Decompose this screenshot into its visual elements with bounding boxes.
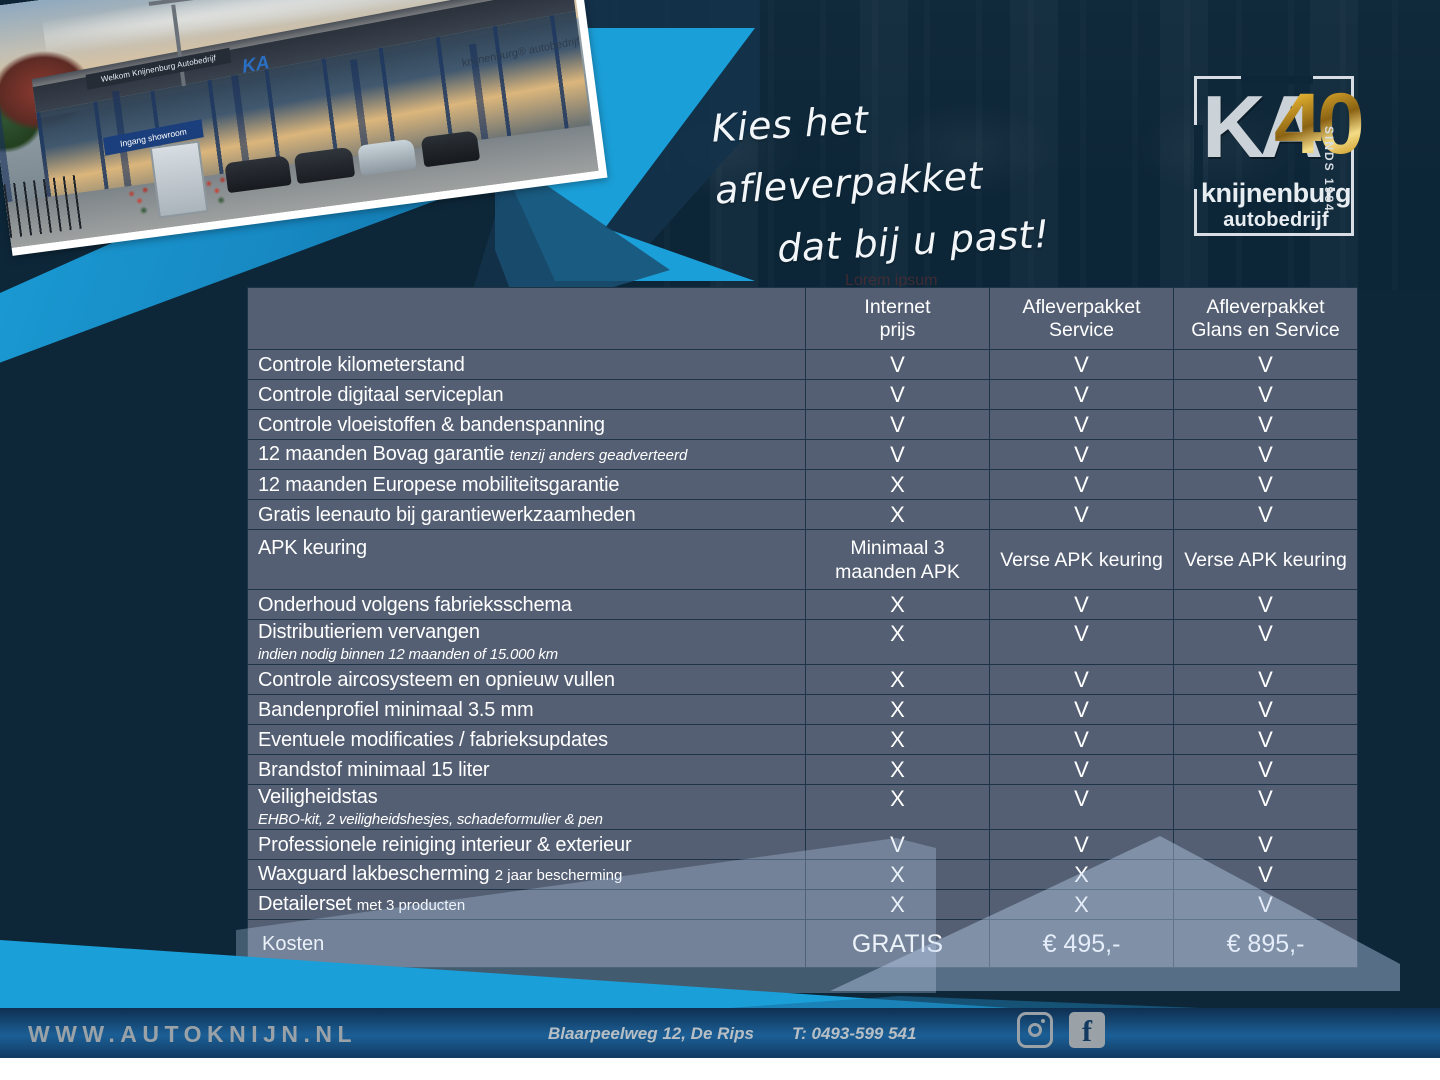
column-header-line-2: Glans en Service [1191,319,1340,341]
table-row: APK keuring Minimaal 3 maanden APK Verse… [248,530,1358,590]
table-row: Eventuele modificaties / fabrieksupdates… [248,725,1358,755]
cell-mark: X [806,755,990,785]
cell-mark: V [1174,590,1358,620]
flower-planter [200,172,240,210]
footer-bar: WWW.AUTOKNIJN.NL Blaarpeelweg 12, De Rip… [0,1008,1440,1058]
table-row: Controle vloeistoffen & bandenspanning V… [248,410,1358,440]
cell-mark: V [1174,860,1358,890]
column-header-internet-prijs: Internet prijs [806,288,990,350]
cell-mark: X [806,785,990,830]
row-label: Detailerset met 3 producten [248,890,806,920]
logo-since-text: SINDS 1984 [1320,126,1338,236]
cell-mark: V [990,785,1174,830]
facebook-glyph: f [1082,1016,1092,1048]
bottom-white-strip [0,1058,1440,1080]
table-row: Gratis leenauto bij garantiewerkzaamhede… [248,500,1358,530]
cell-mark: V [1174,695,1358,725]
column-header-line-1: Internet [864,296,930,318]
cell-mark: V [806,440,990,470]
row-label: Professionele reiniging interieur & exte… [248,830,806,860]
company-logo: KA 40 knijnenburg autobedrijf SINDS 1984 [1188,66,1392,262]
fence [3,174,87,238]
column-header-line-2: prijs [880,319,916,341]
poster-canvas: Welkom Knijnenburg Autobedrijf KA knijne… [0,0,1440,1080]
cell-mark: V [1174,890,1358,920]
instagram-icon[interactable] [1017,1012,1053,1048]
row-label: Distributieriem vervangen indien nodig b… [248,620,806,665]
cell-mark: V [990,410,1174,440]
table-row: 12 maanden Europese mobiliteitsgarantie … [248,470,1358,500]
cost-value-internet: GRATIS [806,920,990,968]
cost-value-glans-service: € 895,- [1174,920,1358,968]
cell-mark: X [806,860,990,890]
cell-mark: V [990,380,1174,410]
cell-mark: V [990,620,1174,665]
cell-mark: V [990,440,1174,470]
row-label: Controle aircosysteem en opnieuw vullen [248,665,806,695]
cell-mark: V [1174,350,1358,380]
table-row: Controle digitaal serviceplan V V V [248,380,1358,410]
row-label: Brandstof minimaal 15 liter [248,755,806,785]
row-label: Controle vloeistoffen & bandenspanning [248,410,806,440]
cell-mark: V [1174,470,1358,500]
cell-mark: V [990,470,1174,500]
cell-mark: V [806,350,990,380]
column-header-line-1: Afleverpakket [1022,296,1140,318]
facebook-icon[interactable]: f [1069,1012,1105,1048]
cell-mark: X [990,890,1174,920]
footer-phone: T: 0493-599 541 [792,1023,916,1045]
cell-mark: V [1174,785,1358,830]
table-cost-row: Kosten GRATIS € 495,- € 895,- [248,920,1358,968]
cell-mark: X [990,860,1174,890]
cell-mark: X [806,695,990,725]
cell-mark: V [990,590,1174,620]
cost-row-label: Kosten [248,920,806,968]
table-row: Bandenprofiel minimaal 3.5 mm X V V [248,695,1358,725]
row-label-note: indien nodig binnen 12 maanden of 15.000… [258,645,795,664]
row-label: Controle kilometerstand [248,350,806,380]
footer-website[interactable]: WWW.AUTOKNIJN.NL [28,1021,357,1047]
cell-mark: V [1174,830,1358,860]
cell-mark: X [806,620,990,665]
cell-mark: X [806,665,990,695]
headline: Kies het afleverpakket dat bij u past! [705,86,1135,206]
row-label: Onderhoud volgens fabrieksschema [248,590,806,620]
row-label-main: Distributieriem vervangen [258,621,480,643]
column-header-afleverpakket-glans-service: Afleverpakket Glans en Service [1174,288,1358,350]
column-header-line-2: Service [1049,319,1114,341]
cell-mark: V [1174,410,1358,440]
row-label-main: 12 maanden Bovag garantie [258,443,504,465]
cell-mark: V [1174,665,1358,695]
table-row: Onderhoud volgens fabrieksschema X V V [248,590,1358,620]
row-label: Veiligheidstas EHBO-kit, 2 veiligheidshe… [248,785,806,830]
cell-mark: V [1174,380,1358,410]
table-row: Veiligheidstas EHBO-kit, 2 veiligheidshe… [248,785,1358,830]
cell-mark: V [990,830,1174,860]
header-empty-cell [248,288,806,350]
table-row: Brandstof minimaal 15 liter X V V [248,755,1358,785]
photo-image: Welkom Knijnenburg Autobedrijf KA knijne… [0,0,599,248]
package-comparison-table: Internet prijs Afleverpakket Service Afl… [247,287,1358,968]
cell-mark: V [806,830,990,860]
flower-planter [123,182,163,220]
row-label: Gratis leenauto bij garantiewerkzaamhede… [248,500,806,530]
cell-mark: X [806,500,990,530]
cell-mark: V [1174,500,1358,530]
cell-mark: V [1174,755,1358,785]
column-header-line-1: Afleverpakket [1206,296,1324,318]
row-label: Bandenprofiel minimaal 3.5 mm [248,695,806,725]
cell-mark: V [990,500,1174,530]
table-row: Professionele reiniging interieur & exte… [248,830,1358,860]
photo-frame: Welkom Knijnenburg Autobedrijf KA knijne… [0,0,607,256]
table-row: 12 maanden Bovag garantie tenzij anders … [248,440,1358,470]
row-label: Eventuele modificaties / fabrieksupdates [248,725,806,755]
row-label-main: Veiligheidstas [258,786,378,808]
cell-mark: V [1174,440,1358,470]
row-label: Controle digitaal serviceplan [248,380,806,410]
column-header-afleverpakket-service: Afleverpakket Service [990,288,1174,350]
row-label-note: 2 jaar bescherming [495,867,623,884]
cell-mark: V [1174,620,1358,665]
cell-mark: X [806,470,990,500]
footer-address: Blaarpeelweg 12, De Rips [548,1023,754,1045]
cell-mark: V [990,695,1174,725]
cell-text: Verse APK keuring [1174,530,1358,590]
cell-mark: V [990,725,1174,755]
table-row: Controle aircosysteem en opnieuw vullen … [248,665,1358,695]
cell-mark: X [806,890,990,920]
row-label-main: Waxguard lakbescherming [258,863,489,885]
table-header-row: Internet prijs Afleverpakket Service Afl… [248,288,1358,350]
cell-mark: X [806,590,990,620]
cell-mark: V [990,665,1174,695]
row-label: 12 maanden Europese mobiliteitsgarantie [248,470,806,500]
row-label: Waxguard lakbescherming 2 jaar beschermi… [248,860,806,890]
row-label-main: Detailerset [258,893,351,915]
cell-mark: V [1174,725,1358,755]
cell-mark: V [990,350,1174,380]
cell-mark: V [806,410,990,440]
row-label-note: tenzij anders geadverteerd [510,447,688,464]
table-row: Distributieriem vervangen indien nodig b… [248,620,1358,665]
cell-text: Minimaal 3 maanden APK [806,530,990,590]
row-label: APK keuring [248,530,806,590]
cell-mark: X [806,725,990,755]
headline-line-1: Kies het afleverpakket [710,74,1146,222]
table-row: Controle kilometerstand V V V [248,350,1358,380]
cell-text: Verse APK keuring [990,530,1174,590]
row-label-note: EHBO-kit, 2 veiligheidshesjes, schadefor… [258,810,795,829]
cell-mark: V [990,755,1174,785]
cost-value-service: € 495,- [990,920,1174,968]
cell-mark: V [806,380,990,410]
table-row: Waxguard lakbescherming 2 jaar beschermi… [248,860,1358,890]
row-label: 12 maanden Bovag garantie tenzij anders … [248,440,806,470]
row-label-note: met 3 producten [357,897,465,914]
table-row: Detailerset met 3 producten X X V [248,890,1358,920]
